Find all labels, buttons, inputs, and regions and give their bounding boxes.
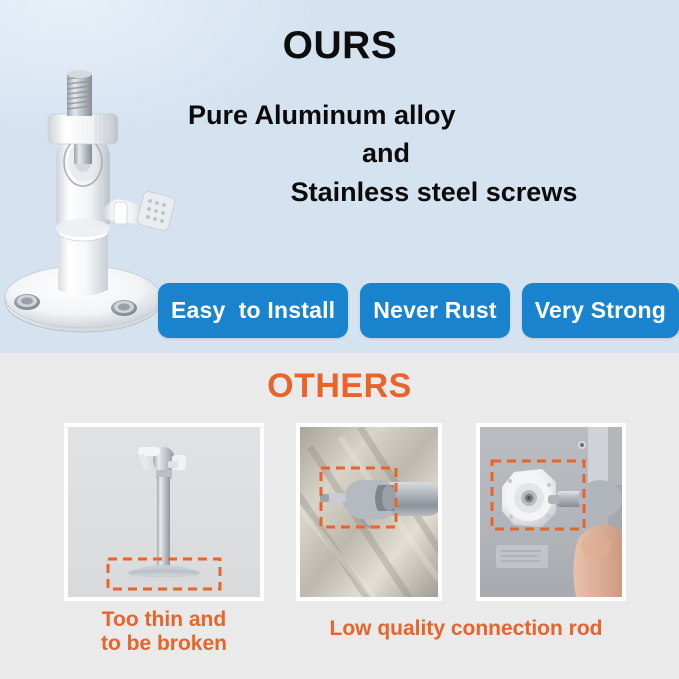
product-comparison-infographic: OURS Pure Aluminum alloy and Stainless s… xyxy=(0,0,679,679)
wall-mount-rod-photo xyxy=(480,427,622,597)
others-caption-2: Low quality connection rod xyxy=(296,617,636,641)
others-caption-1: Too thin and to be broken xyxy=(64,608,264,655)
connection-rod-closeup-photo xyxy=(300,427,438,597)
others-panel-3[interactable] xyxy=(476,423,626,601)
others-panel-2[interactable] xyxy=(296,423,442,601)
thin-silver-bracket-photo xyxy=(68,427,260,597)
others-title: OTHERS xyxy=(0,367,679,406)
others-panel-1[interactable] xyxy=(64,423,264,601)
others-photo-row: Too thin and to be broken Low quality co… xyxy=(0,0,679,326)
